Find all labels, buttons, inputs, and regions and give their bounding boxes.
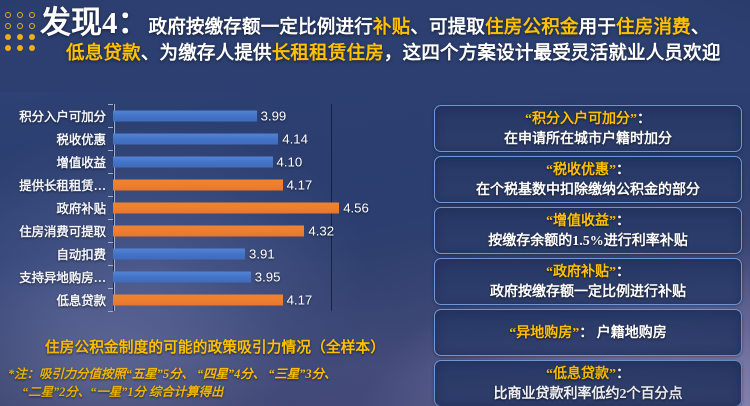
definition-card-colon: ： [616, 163, 630, 178]
chart-bar [113, 156, 273, 167]
chart-value-label: 3.99 [261, 108, 287, 123]
headline-line-1-seg-5: 住房消费 [616, 18, 691, 38]
definition-card[interactable]: “增值收益”：按缴存余额的1.5%进行利率补贴 [434, 207, 742, 254]
dot [5, 34, 11, 40]
dot [29, 23, 35, 29]
finding-label: 发现4： [40, 5, 149, 40]
definition-card-colon: ： [616, 367, 630, 382]
headline-line-1-seg-4: 用于 [579, 18, 616, 38]
chart-bar [113, 133, 278, 144]
definition-card-heading: “积分入户可加分”： [441, 110, 735, 130]
definition-card[interactable]: “税收优惠”：在个税基数中扣除缴纳公积金的部分 [434, 156, 742, 203]
definition-card-description: 在个税基数中扣除缴纳公积金的部分 [441, 181, 735, 201]
chart-bar-row: 税收优惠4.14 [113, 127, 403, 150]
chart-bar-row: 积分入户可加分3.99 [113, 104, 403, 127]
definition-card-description: 按缴存余额的1.5%进行利率补贴 [441, 232, 735, 252]
dot [5, 45, 11, 51]
chart-bar-row: 自动扣费3.91 [113, 242, 403, 265]
chart-bar-row: 低息贷款4.17 [113, 288, 403, 311]
chart-bar [113, 202, 339, 213]
chart-bar [113, 225, 304, 236]
dot [5, 12, 11, 18]
chart-bar [113, 271, 251, 282]
headline-line-2: 低息贷款、为缴存人提供长租租赁住房，这四个方案设计最受灵活就业人员欢迎 [66, 44, 721, 64]
headline-line-1-seg-1: 补贴 [373, 18, 410, 38]
headline-line-2-seg-2: 长租租赁住房 [272, 44, 384, 64]
chart-value-label: 4.17 [287, 177, 313, 192]
definition-card-colon: ： [616, 265, 630, 280]
chart-category-label: 低息贷款 [56, 291, 106, 309]
definition-card[interactable]: “低息贷款”：比商业贷款利率低约2个百分点 [434, 360, 742, 406]
dot [29, 12, 35, 18]
headline-line-2-seg-1: 、为缴存人提供 [141, 44, 272, 64]
dot-grid-icon [5, 12, 38, 54]
chart-caption: 住房公积金制度的可能的政策吸引力情况（全样本） *注：吸引力分值按照“五星”5分… [0, 336, 430, 401]
definition-card-heading: “税收优惠”： [441, 161, 735, 181]
chart-value-label: 3.95 [255, 269, 281, 284]
chart-bar-row: 增值收益4.10 [113, 150, 403, 173]
definition-card-heading: “政府补贴”： [441, 263, 735, 283]
chart-note: *注：吸引力分值按照“五星”5分、 “四星”4分、 “三星”3分、 “二星”2分… [0, 366, 430, 401]
headline-line-1-seg-2: 、可提取 [410, 18, 485, 38]
headline-line-1-seg-0: 政府按缴存额一定比例进行 [149, 18, 373, 38]
chart-category-label: 积分入户可加分 [19, 107, 106, 125]
chart-bar [113, 294, 283, 305]
definition-card-colon: ： [579, 326, 597, 341]
definition-card[interactable]: “政府补贴”：政府按缴存额一定比例进行补贴 [434, 258, 742, 305]
definition-card[interactable]: “异地购房”： 户籍地购房 [434, 309, 742, 356]
chart-value-label: 4.56 [343, 200, 369, 215]
definition-card-colon: ： [616, 214, 630, 229]
definition-card-heading: “异地购房” [509, 326, 579, 341]
chart-bar-row: 提供长租租赁…4.17 [113, 173, 403, 196]
chart-value-label: 4.10 [277, 154, 303, 169]
headline-line-1-seg-3: 住房公积金 [485, 18, 579, 38]
definition-card-description: 户籍地购房 [597, 326, 667, 341]
chart-bar [113, 110, 257, 121]
definition-card-colon: ： [637, 112, 651, 127]
definition-card-heading: “低息贷款”： [441, 365, 735, 385]
dot [29, 34, 35, 40]
chart-value-label: 4.17 [287, 292, 313, 307]
dot [17, 45, 23, 51]
chart-title: 住房公积金制度的可能的政策吸引力情况（全样本） [0, 336, 430, 357]
chart-axis-tick [108, 311, 113, 312]
chart-value-label: 4.14 [282, 131, 308, 146]
headline: 发现4：政府按缴存额一定比例进行补贴、可提取住房公积金用于住房消费、 低息贷款、… [40, 6, 748, 64]
chart-value-label: 3.91 [249, 246, 275, 261]
chart-bar-row: 政府补贴4.56 [113, 196, 403, 219]
bar-chart: 积分入户可加分3.99税收优惠4.14增值收益4.10提供长租租赁…4.17政府… [0, 100, 424, 318]
definition-card-description: 政府按缴存额一定比例进行补贴 [441, 283, 735, 303]
chart-bar-row: 支持异地购房…3.95 [113, 265, 403, 288]
dot [17, 23, 23, 29]
definition-card-list: “积分入户可加分”：在申请所在城市户籍时加分“税收优惠”：在个税基数中扣除缴纳公… [434, 105, 742, 406]
chart-category-label: 政府补贴 [56, 199, 106, 217]
chart-category-label: 支持异地购房… [19, 268, 106, 286]
definition-card-description: 比商业贷款利率低约2个百分点 [441, 385, 735, 405]
headline-line-1-seg-6: 、 [691, 18, 710, 38]
slide-header: 发现4：政府按缴存额一定比例进行补贴、可提取住房公积金用于住房消费、 低息贷款、… [0, 0, 750, 96]
dot [17, 34, 23, 40]
dot [29, 45, 35, 51]
chart-value-label: 4.32 [308, 223, 334, 238]
chart-bar [113, 179, 283, 190]
chart-category-label: 自动扣费 [56, 245, 106, 263]
definition-card-heading: “增值收益”： [441, 212, 735, 232]
definition-card[interactable]: “积分入户可加分”：在申请所在城市户籍时加分 [434, 105, 742, 152]
definition-card-description: 在申请所在城市户籍时加分 [441, 130, 735, 150]
chart-category-label: 住房消费可提取 [19, 222, 106, 240]
headline-line-1: 政府按缴存额一定比例进行补贴、可提取住房公积金用于住房消费、 [149, 18, 710, 38]
dot [5, 23, 11, 29]
chart-plot-area: 积分入户可加分3.99税收优惠4.14增值收益4.10提供长租租赁…4.17政府… [113, 104, 403, 311]
chart-category-label: 提供长租租赁… [19, 176, 106, 194]
chart-note-line-1: *注：吸引力分值按照“五星”5分、 “四星”4分、 “三星”3分、 [8, 367, 336, 381]
headline-line-2-seg-3: ，这四个方案设计最受灵活就业人员欢迎 [384, 44, 721, 64]
headline-line-2-seg-0: 低息贷款 [66, 44, 141, 64]
definition-card-inline: “异地购房”： 户籍地购房 [509, 322, 667, 342]
chart-category-label: 税收优惠 [56, 130, 106, 148]
chart-category-label: 增值收益 [56, 153, 106, 171]
chart-bar [113, 248, 245, 259]
dot [17, 12, 23, 18]
chart-bar-row: 住房消费可提取4.32 [113, 219, 403, 242]
chart-note-line-2: “二星”2分、“一星”1分 综合计算得出 [8, 384, 416, 402]
